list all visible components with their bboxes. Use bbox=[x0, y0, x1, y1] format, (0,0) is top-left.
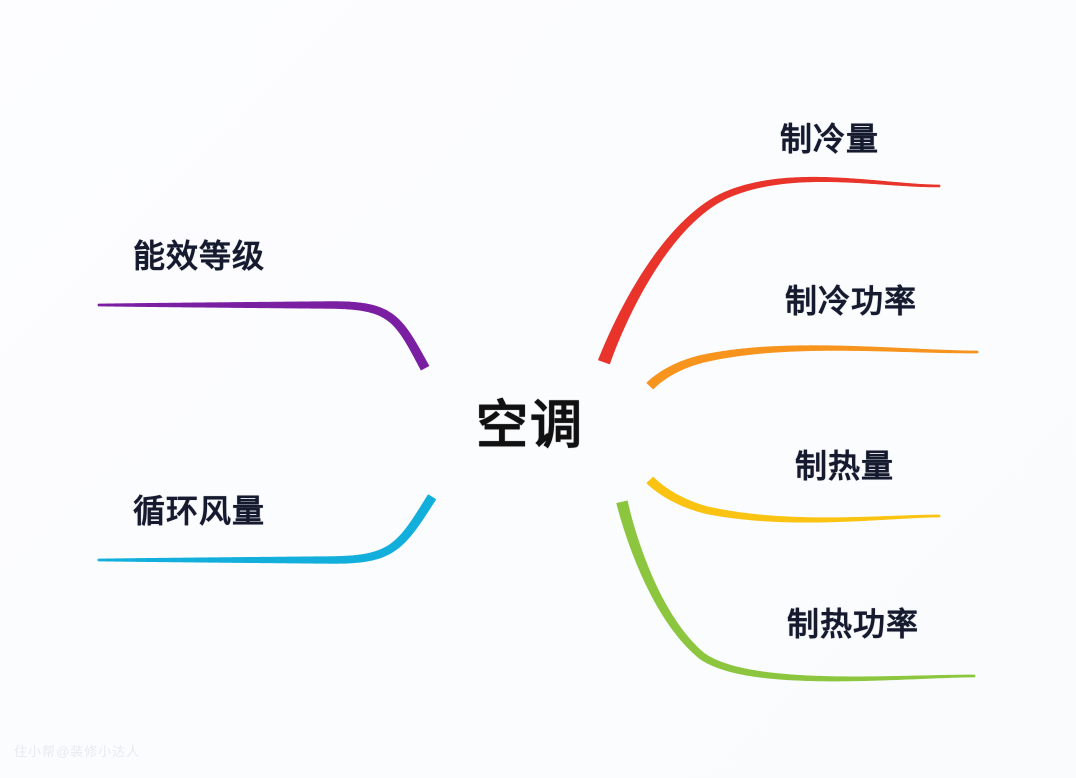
center-node-label[interactable]: 空调 bbox=[476, 400, 584, 452]
branch-lines bbox=[0, 0, 1076, 778]
branch-label-heating-capacity[interactable]: 制热量 bbox=[795, 450, 894, 482]
branch-label-heating-power[interactable]: 制热功率 bbox=[787, 608, 919, 640]
branch-label-cooling-capacity[interactable]: 制冷量 bbox=[780, 123, 879, 155]
branch-label-energy-efficiency-rating[interactable]: 能效等级 bbox=[133, 240, 265, 272]
branch-energy-efficiency-rating[interactable] bbox=[98, 302, 429, 371]
watermark: 住小帮@装修小达人 bbox=[14, 741, 140, 760]
branch-label-circulating-air-volume[interactable]: 循环风量 bbox=[133, 495, 265, 527]
mindmap-canvas: 空调 能效等级 循环风量 制冷量 制冷功率 制热量 制热功率 住小帮@装修小达人 bbox=[0, 0, 1076, 778]
branch-cooling-power[interactable] bbox=[647, 346, 978, 389]
branch-heating-power[interactable] bbox=[617, 501, 975, 681]
branch-label-cooling-power[interactable]: 制冷功率 bbox=[785, 285, 917, 317]
branch-cooling-capacity[interactable] bbox=[598, 177, 940, 364]
branch-heating-capacity[interactable] bbox=[647, 477, 940, 522]
